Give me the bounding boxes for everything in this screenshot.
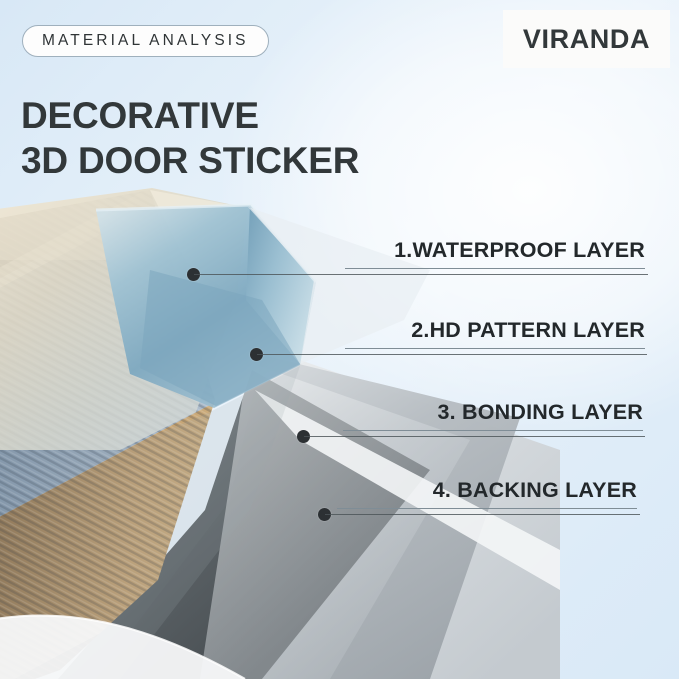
page-title-line-2: 3D DOOR STICKER <box>21 138 359 183</box>
layer-label-bonding: 3. BONDING LAYER <box>343 400 643 431</box>
layer-label-backing: 4. BACKING LAYER <box>337 478 637 509</box>
callout-line-hd-pattern-layer <box>257 354 647 355</box>
page-title-line-1: DECORATIVE <box>21 93 359 138</box>
callout-line-waterproof-layer <box>194 274 648 275</box>
callout-line-backing-layer <box>325 514 640 515</box>
product-infographic: MATERIAL ANALYSIS DECORATIVE 3D DOOR STI… <box>0 0 679 679</box>
section-badge: MATERIAL ANALYSIS <box>22 25 269 57</box>
brand-logo: VIRANDA <box>503 10 670 68</box>
section-badge-label: MATERIAL ANALYSIS <box>42 32 249 50</box>
brand-logo-text: VIRANDA <box>523 24 650 55</box>
page-title: DECORATIVE 3D DOOR STICKER <box>21 93 359 183</box>
layer-label-waterproof: 1.WATERPROOF LAYER <box>345 238 645 269</box>
layer-label-hd-pattern: 2.HD PATTERN LAYER <box>345 318 645 349</box>
callout-line-bonding-layer <box>304 436 645 437</box>
